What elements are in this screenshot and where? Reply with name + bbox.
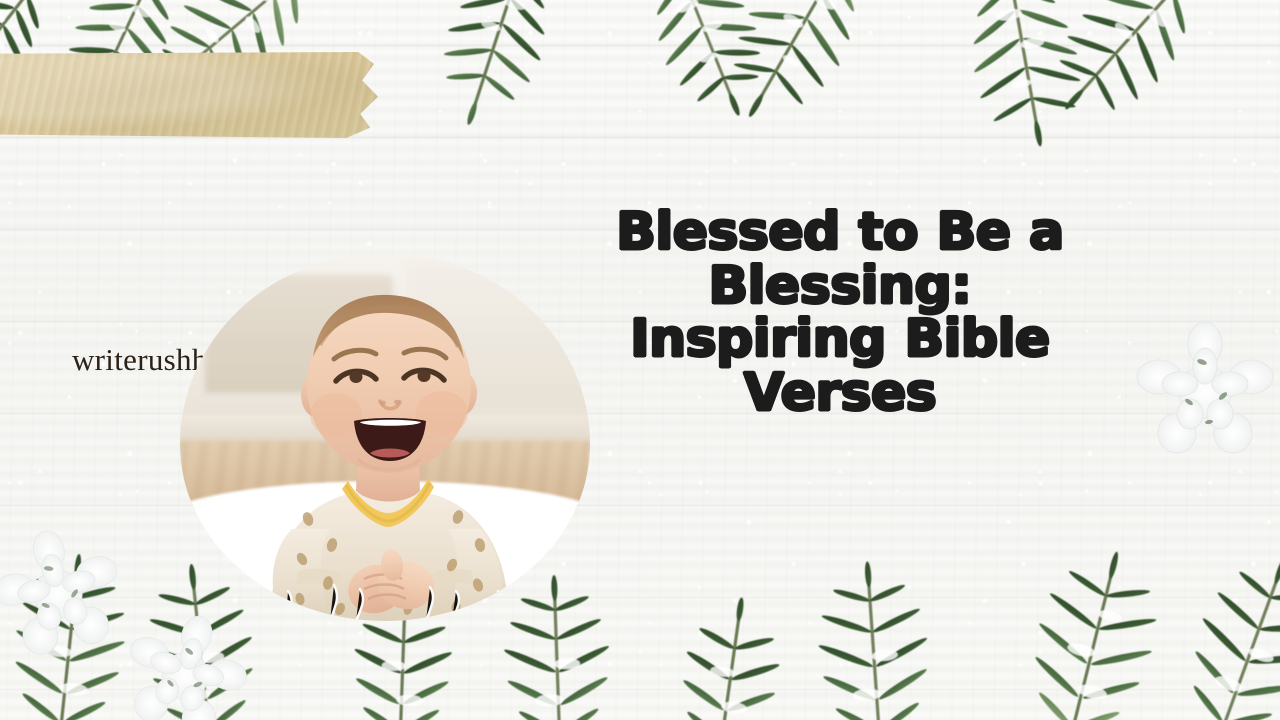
baby-illustration bbox=[180, 253, 590, 621]
featured-image-canvas: writerushh.com bbox=[0, 0, 1280, 720]
page-title: Blessed to Be a Blessing: Inspiring Bibl… bbox=[600, 206, 1080, 420]
banner-paper-texture bbox=[0, 52, 386, 138]
watermark-banner bbox=[0, 52, 386, 138]
smiling-baby-photo bbox=[180, 253, 590, 621]
